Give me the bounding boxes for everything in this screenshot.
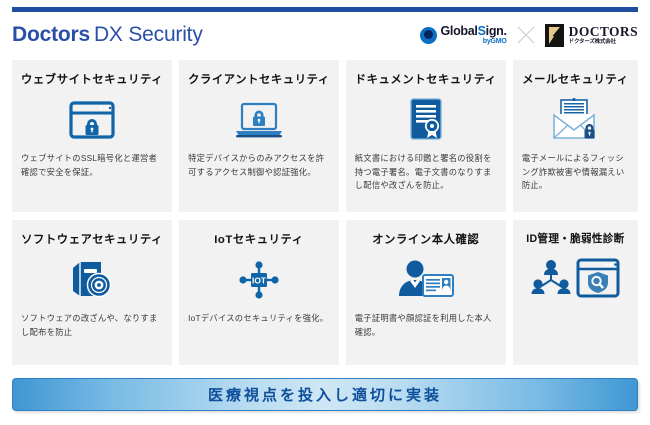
brand-light: DX Security	[90, 23, 203, 46]
globalsign-wordmark: GlobalSign. byGMO	[441, 25, 507, 46]
globalsign-name-s: S	[478, 24, 486, 38]
card-title: ウェブサイトセキュリティ	[21, 71, 163, 87]
card-client-security[interactable]: クライアントセキュリティ 特定デバイスからのみアクセスを許可するアクセス制御や認…	[179, 60, 339, 212]
card-title: ID管理・脆弱性診断	[526, 231, 624, 246]
card-software-security[interactable]: ソフトウェアセキュリティ ソフトウェアの改ざんや、なりすまし配布を防止	[12, 220, 172, 365]
top-rule-divider	[12, 7, 638, 12]
card-document-security[interactable]: ドキュメントセキュリティ 紙文書における印鑑と署名の役割を持つ電子署名。電子文書…	[346, 60, 506, 212]
globalsign-logo: GlobalSign. byGMO	[420, 25, 507, 46]
identity-shield-icon	[530, 253, 620, 305]
card-description: 紙文書における印鑑と署名の役割を持つ電子署名。電子文書のなりすまし配信や改ざんを…	[355, 152, 497, 193]
software-disc-icon	[68, 254, 116, 306]
browser-lock-icon	[69, 94, 115, 146]
globalsign-eye-icon	[420, 27, 437, 44]
doctors-mark-icon	[545, 24, 564, 47]
card-online-identity-verification[interactable]: オンライン本人確認 電	[346, 220, 506, 365]
doctors-logo: DOCTORS ドクターズ株式会社	[545, 24, 638, 47]
card-iot-security[interactable]: IoTセキュリティ IOT IoTデバイスのセ	[179, 220, 339, 365]
iot-node-icon: IOT	[234, 254, 284, 306]
card-description: IoTデバイスのセキュリティを強化。	[188, 312, 330, 326]
card-description: ソフトウェアの改ざんや、なりすまし配布を防止	[21, 312, 163, 339]
card-description: 電子メールによるフィッシング詐欺被害や情報漏えい防止。	[522, 152, 629, 193]
doctors-subtitle: ドクターズ株式会社	[569, 40, 638, 46]
card-id-management-vulnerability[interactable]: ID管理・脆弱性診断	[513, 220, 638, 365]
card-title: ドキュメントセキュリティ	[355, 71, 497, 87]
mail-lock-icon	[548, 94, 602, 146]
card-title: ソフトウェアセキュリティ	[21, 231, 163, 247]
slide-root: DoctorsDX Security GlobalSign. byGMO	[0, 0, 650, 425]
card-title: IoTセキュリティ	[214, 231, 303, 247]
cross-separator-icon	[516, 25, 536, 45]
page-header: DoctorsDX Security GlobalSign. byGMO	[12, 14, 638, 56]
card-mail-security[interactable]: メールセキュリティ	[513, 60, 638, 212]
laptop-lock-icon	[233, 94, 285, 146]
globalsign-subtitle: byGMO	[441, 38, 507, 45]
doctors-name: DOCTORS	[569, 25, 638, 39]
card-title: メールセキュリティ	[522, 71, 628, 87]
svg-text:IOT: IOT	[252, 275, 267, 285]
globalsign-name-suffix: ign.	[486, 24, 507, 38]
page-title: DoctorsDX Security	[12, 23, 203, 47]
doctors-wordmark: DOCTORS ドクターズ株式会社	[569, 25, 638, 46]
card-description: ウェブサイトのSSL暗号化と運営者確認で安全を保証。	[21, 152, 163, 179]
card-title: クライアントセキュリティ	[188, 71, 330, 87]
brand-bold: Doctors	[12, 23, 90, 46]
bottom-banner: 医療視点を投入し適切に実装	[12, 378, 638, 411]
partner-logos: GlobalSign. byGMO DOCTORS ドクターズ株式会社	[420, 24, 639, 47]
banner-text: 医療視点を投入し適切に実装	[208, 384, 442, 405]
certificate-seal-icon	[406, 94, 446, 146]
person-id-card-icon	[395, 254, 457, 306]
card-description: 特定デバイスからのみアクセスを許可するアクセス制御や認証強化。	[188, 152, 330, 179]
card-website-security[interactable]: ウェブサイトセキュリティ ウェブサイトのSSL暗号化と運営者確認で安全を保証。	[12, 60, 172, 212]
card-description: 電子証明書や顔認証を利用した本人確認。	[355, 312, 497, 339]
security-card-grid: ウェブサイトセキュリティ ウェブサイトのSSL暗号化と運営者確認で安全を保証。 …	[12, 60, 638, 365]
card-title: オンライン本人確認	[372, 231, 479, 247]
globalsign-name-prefix: Global	[441, 24, 478, 38]
